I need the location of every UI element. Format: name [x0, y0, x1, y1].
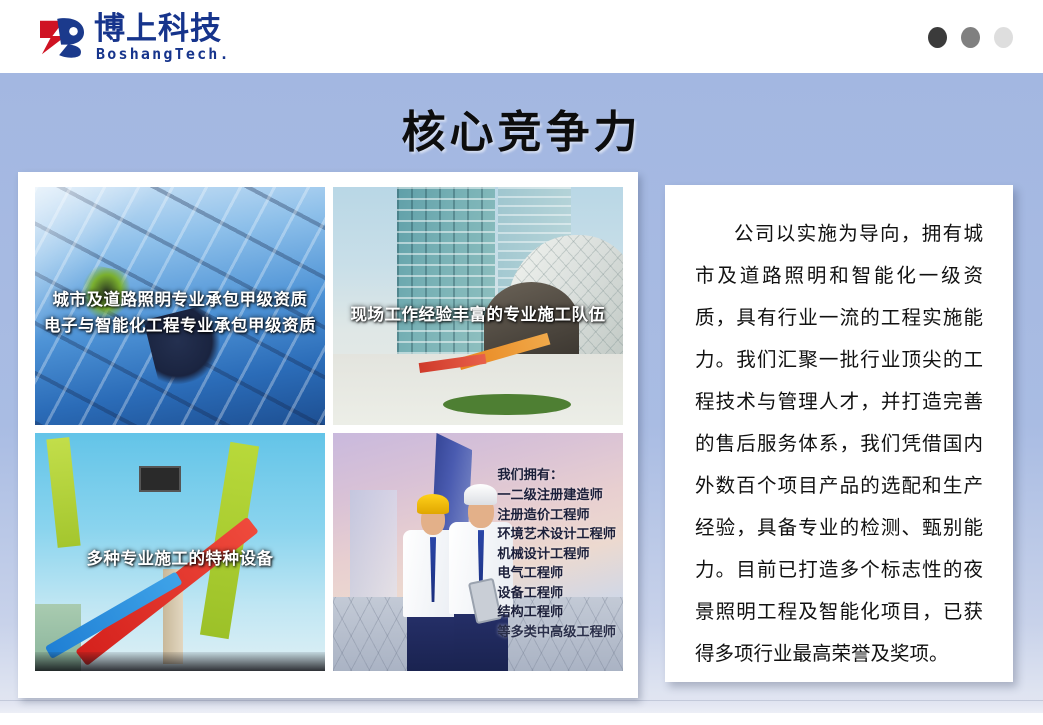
- boshang-b-logo-icon: [38, 15, 86, 59]
- page-header: 博上科技 BoshangTech.: [0, 0, 1043, 73]
- list-item: 环境艺术设计工程师: [497, 525, 616, 545]
- dot-light-icon[interactable]: [994, 27, 1013, 48]
- company-logo[interactable]: 博上科技 BoshangTech.: [38, 10, 268, 66]
- photo-caption-3: 多种专业施工的特种设备: [35, 545, 325, 569]
- caption-line: 现场工作经验丰富的专业施工队伍: [333, 301, 623, 325]
- white-hardhat-icon: [464, 484, 497, 505]
- list-item: 设备工程师: [497, 584, 616, 604]
- description-paragraph: 公司以实施为导向，拥有城市及道路照明和智能化一级资质，具有行业一流的工程实施能力…: [695, 213, 983, 675]
- photo-caption-2: 现场工作经验丰富的专业施工队伍: [333, 301, 623, 325]
- description-card: 公司以实施为导向，拥有城市及道路照明和智能化一级资质，具有行业一流的工程实施能力…: [665, 185, 1013, 682]
- presentation-slide: 博上科技 BoshangTech. 核心竞争力 城市及道路照明专业承包甲级资质 …: [0, 0, 1043, 725]
- foreground-shadow: [35, 652, 325, 671]
- logo-english-name: BoshangTech.: [96, 45, 231, 63]
- list-item: 结构工程师: [497, 603, 616, 623]
- list-item: 机械设计工程师: [497, 545, 616, 565]
- photo-grid: 城市及道路照明专业承包甲级资质 电子与智能化工程专业承包甲级资质 现场工作经验丰…: [35, 187, 623, 677]
- caption-line: 电子与智能化工程专业承包甲级资质: [35, 313, 325, 339]
- photo-engineers-team[interactable]: 我们拥有： 一二级注册建造师 注册造价工程师 环境艺术设计工程师 机械设计工程师…: [333, 433, 623, 671]
- photo-caption-1: 城市及道路照明专业承包甲级资质 电子与智能化工程专业承包甲级资质: [35, 287, 325, 339]
- photo-city-construction-dome[interactable]: 现场工作经验丰富的专业施工队伍: [333, 187, 623, 425]
- logo-chinese-name: 博上科技: [94, 12, 222, 46]
- background-building-left: [350, 490, 396, 604]
- dot-mid-icon[interactable]: [961, 27, 980, 48]
- qualifications-heading: 我们拥有：: [497, 466, 616, 486]
- header-dots-group[interactable]: [928, 27, 1013, 48]
- list-item: 等多类中高级工程师: [497, 623, 616, 643]
- page-title: 核心竞争力: [0, 96, 1043, 160]
- caption-line: 城市及道路照明专业承包甲级资质: [35, 287, 325, 313]
- lift-basket: [139, 466, 181, 491]
- footer-strip: [0, 700, 1043, 713]
- crane-mast-green-left: [47, 437, 82, 548]
- gallery-card: 城市及道路照明专业承包甲级资质 电子与智能化工程专业承包甲级资质 现场工作经验丰…: [18, 172, 638, 698]
- tower-shape: [397, 187, 496, 358]
- photo-glass-facade-workers[interactable]: 城市及道路照明专业承包甲级资质 电子与智能化工程专业承包甲级资质: [35, 187, 325, 425]
- photo-boom-lifts-cranes[interactable]: 多种专业施工的特种设备: [35, 433, 325, 671]
- list-item: 注册造价工程师: [497, 506, 616, 526]
- dot-dark-icon[interactable]: [928, 27, 947, 48]
- yellow-hardhat-icon: [417, 494, 449, 514]
- list-item: 一二级注册建造师: [497, 486, 616, 506]
- list-item: 电气工程师: [497, 564, 616, 584]
- caption-line: 多种专业施工的特种设备: [35, 545, 325, 569]
- qualifications-list: 我们拥有： 一二级注册建造师 注册造价工程师 环境艺术设计工程师 机械设计工程师…: [497, 466, 616, 642]
